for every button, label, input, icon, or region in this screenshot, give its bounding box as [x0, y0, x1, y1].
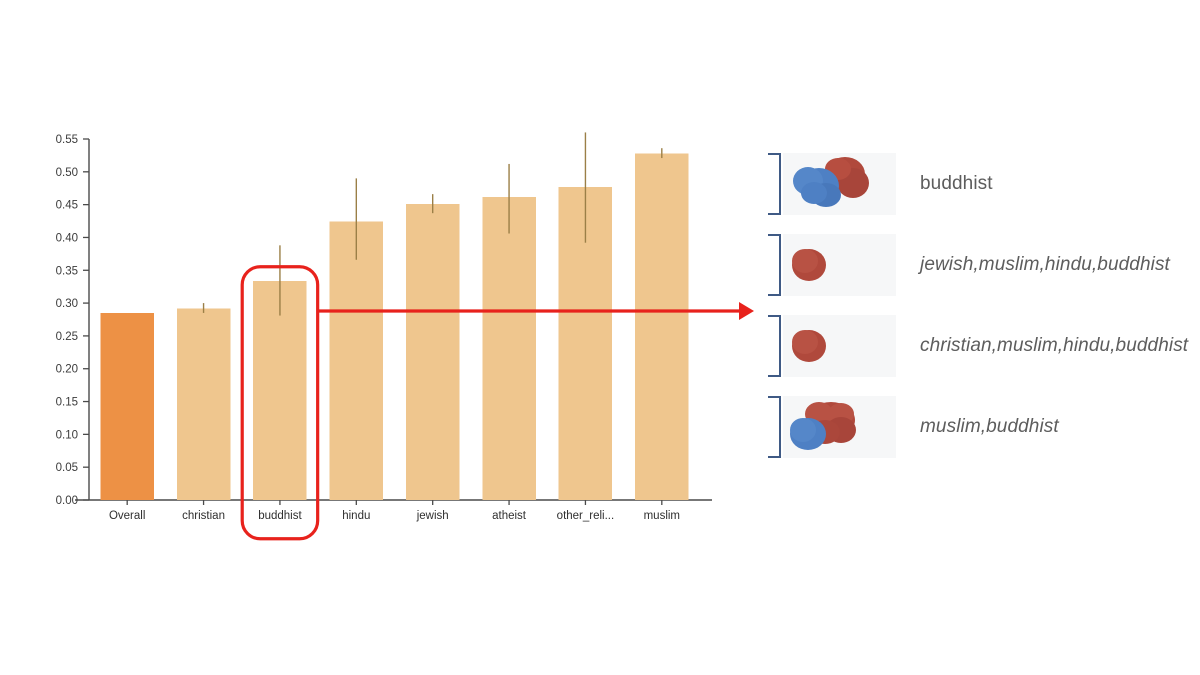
legend-item-label: muslim,buddhist	[920, 416, 1059, 438]
x-tick-label-buddhist: buddhist	[258, 510, 302, 522]
legend-item-label: buddhist	[920, 173, 993, 195]
bracket-icon	[768, 153, 781, 215]
bar-jewish[interactable]	[406, 204, 459, 500]
y-tick-label: 0.35	[56, 265, 78, 277]
bracket-icon	[768, 315, 781, 377]
x-tick-label-hindu: hindu	[342, 510, 370, 522]
bar-overall[interactable]	[100, 313, 153, 500]
list-item[interactable]: jewish,muslim,hindu,buddhist	[768, 229, 1200, 301]
bar-christian[interactable]	[177, 308, 230, 500]
x-tick-label-jewish: jewish	[416, 510, 449, 522]
bar-chart-figure: 0.000.050.100.150.200.250.300.350.400.45…	[0, 0, 760, 675]
bar-chart-svg: 0.000.050.100.150.200.250.300.350.400.45…	[0, 0, 760, 675]
image-legend-panel: buddhist jewish,muslim,hindu,buddhist ch…	[768, 148, 1200, 488]
list-item[interactable]: christian,muslim,hindu,buddhist	[768, 310, 1200, 382]
blob-single-red-thumbnail[interactable]	[783, 315, 896, 377]
y-tick-label: 0.50	[56, 167, 78, 179]
blob-render-icon	[783, 315, 896, 377]
list-item[interactable]: buddhist	[768, 148, 1200, 220]
blob-cluster-blue-red-thumbnail[interactable]	[783, 153, 896, 215]
x-tick-label-other-reli-: other_reli...	[557, 510, 615, 522]
bar-hindu[interactable]	[330, 222, 383, 500]
y-tick-label: 0.25	[56, 331, 78, 343]
blob-cluster-red-blue-thumbnail[interactable]	[783, 396, 896, 458]
y-tick-label: 0.05	[56, 462, 78, 474]
y-tick-label: 0.15	[56, 397, 78, 409]
x-tick-label-muslim: muslim	[644, 510, 680, 522]
legend-item-label: jewish,muslim,hindu,buddhist	[920, 254, 1170, 276]
y-tick-label: 0.40	[56, 232, 78, 244]
blob-single-red-thumbnail[interactable]	[783, 234, 896, 296]
bar-atheist[interactable]	[482, 197, 535, 500]
blob-render-icon	[783, 234, 896, 296]
x-tick-label-overall: Overall	[109, 510, 145, 522]
bracket-icon	[768, 396, 781, 458]
y-tick-label: 0.30	[56, 298, 78, 310]
bracket-icon	[768, 234, 781, 296]
blob-render-icon	[783, 396, 896, 458]
list-item[interactable]: muslim,buddhist	[768, 391, 1200, 463]
y-tick-label: 0.20	[56, 364, 78, 376]
y-tick-label: 0.45	[56, 200, 78, 212]
y-tick-label: 0.55	[56, 134, 78, 146]
legend-item-label: christian,muslim,hindu,buddhist	[920, 335, 1188, 357]
x-tick-label-atheist: atheist	[492, 510, 527, 522]
annotation-arrow-head-icon	[739, 302, 754, 320]
bar-muslim[interactable]	[635, 153, 688, 500]
y-tick-label: 0.10	[56, 429, 78, 441]
y-tick-label: 0.00	[56, 495, 78, 507]
blob-render-icon	[783, 153, 896, 215]
x-tick-label-christian: christian	[182, 510, 225, 522]
